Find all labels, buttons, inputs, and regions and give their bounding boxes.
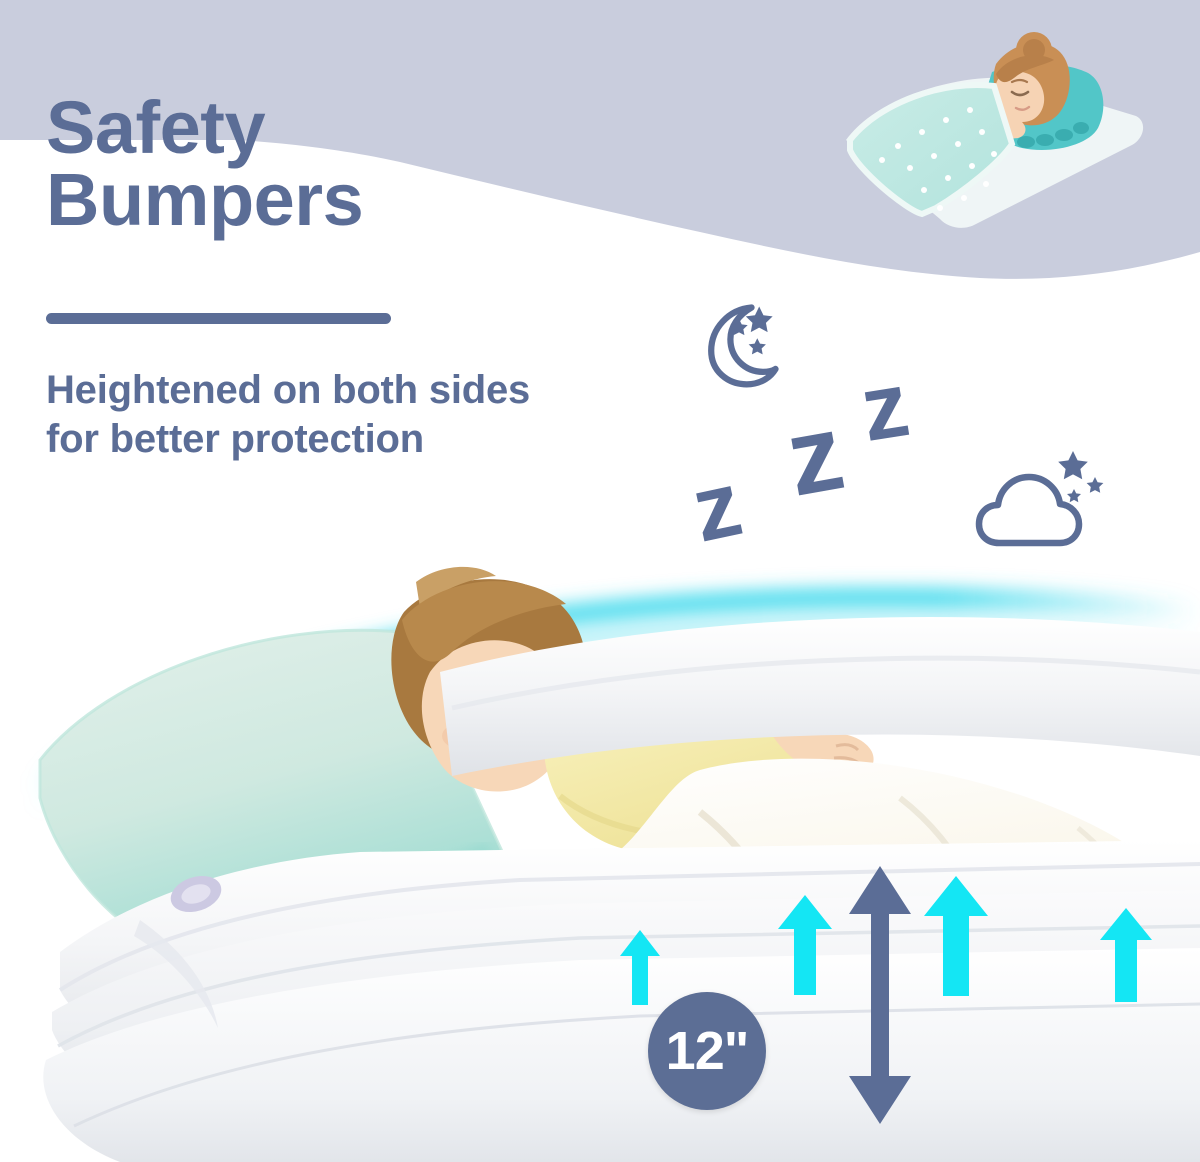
up-arrow-icon-2: [778, 895, 832, 995]
subtitle: Heightened on both sides for better prot…: [46, 366, 530, 464]
up-arrow-icon-3: [924, 876, 988, 996]
zzz-medium: z: [778, 388, 853, 520]
up-arrow-icon-4: [1100, 908, 1152, 1002]
crescent-moon-icon: [692, 296, 788, 392]
zzz-small: z: [684, 451, 751, 563]
up-arrow-icon-1: [620, 930, 660, 1005]
height-badge-label: 12": [666, 1020, 749, 1082]
title-divider: [46, 313, 391, 324]
sleeping-child-illustration: [836, 12, 1166, 252]
height-double-arrow-icon: [845, 866, 915, 1124]
product-feature-banner: Safety Bumpers Heightened on both sides …: [0, 0, 1200, 1162]
height-badge: 12": [648, 992, 766, 1110]
cloud-icon: [975, 445, 1105, 555]
zzz-large: z: [854, 352, 916, 463]
product-photo-toddler-inflatable-bed: [0, 560, 1200, 1162]
page-title: Safety Bumpers: [46, 92, 363, 236]
